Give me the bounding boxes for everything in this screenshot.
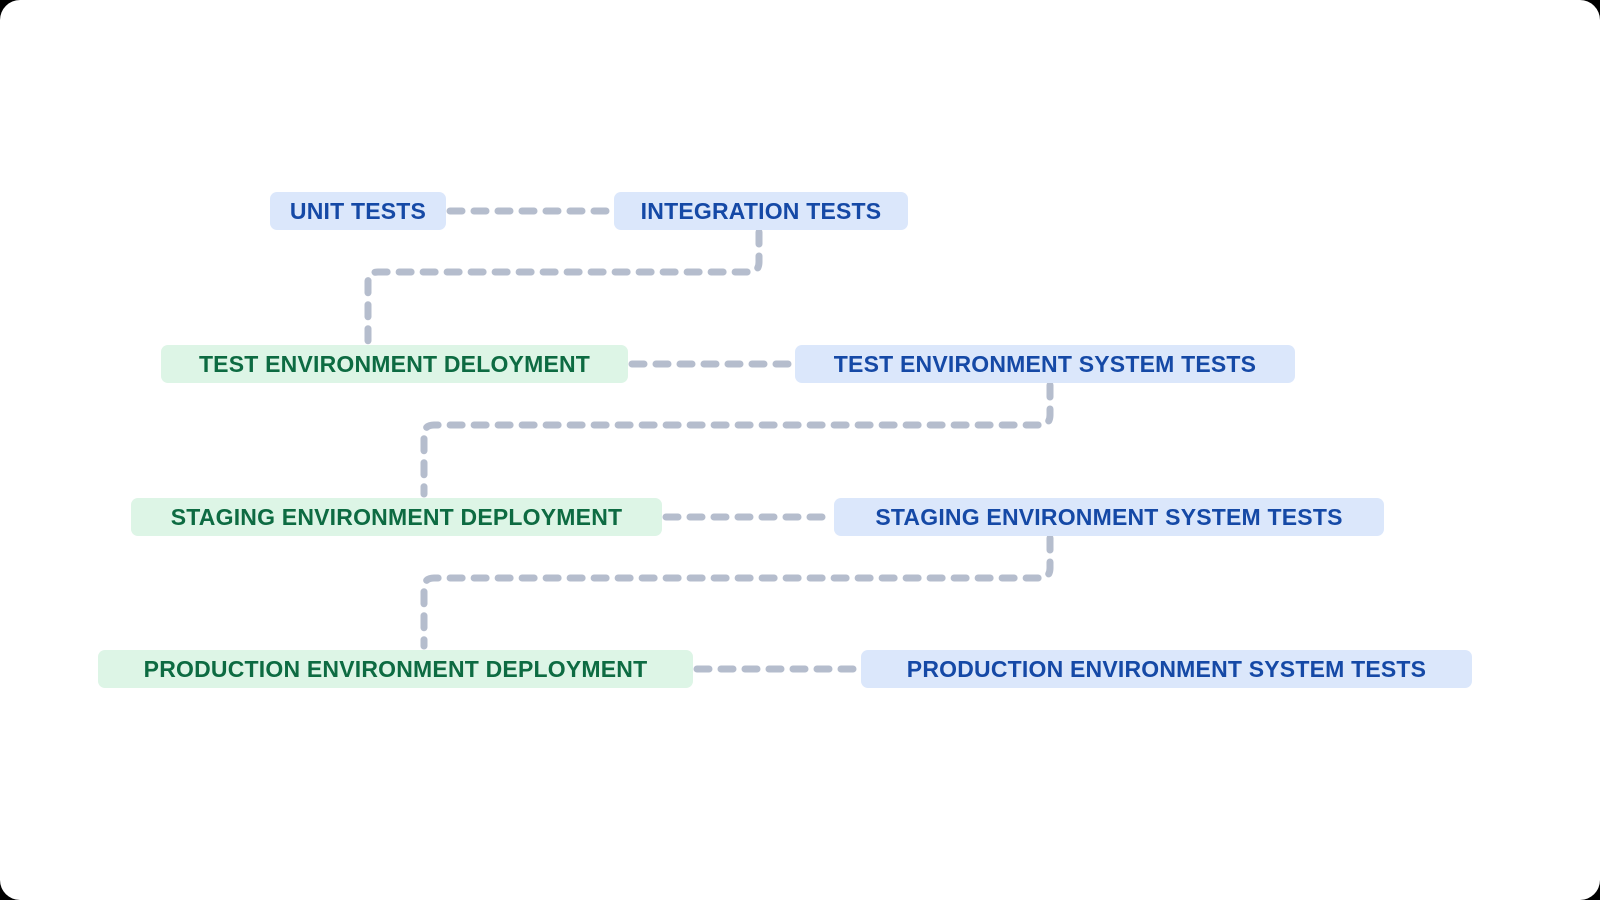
node-test-environment-deloyment[interactable]: TEST ENVIRONMENT DELOYMENT: [161, 345, 628, 383]
connector-integration-to-test-deploy: [368, 232, 759, 341]
node-label: TEST ENVIRONMENT DELOYMENT: [199, 351, 590, 378]
connector-staging-tests-to-prod: [424, 538, 1050, 646]
node-label: STAGING ENVIRONMENT SYSTEM TESTS: [875, 504, 1342, 531]
node-production-environment-deployment[interactable]: PRODUCTION ENVIRONMENT DEPLOYMENT: [98, 650, 693, 688]
node-production-environment-system-tests[interactable]: PRODUCTION ENVIRONMENT SYSTEM TESTS: [861, 650, 1472, 688]
node-test-environment-system-tests[interactable]: TEST ENVIRONMENT SYSTEM TESTS: [795, 345, 1295, 383]
node-label: PRODUCTION ENVIRONMENT SYSTEM TESTS: [907, 656, 1426, 683]
node-label: STAGING ENVIRONMENT DEPLOYMENT: [171, 504, 623, 531]
connector-layer: [0, 0, 1600, 900]
node-staging-environment-deployment[interactable]: STAGING ENVIRONMENT DEPLOYMENT: [131, 498, 662, 536]
node-label: UNIT TESTS: [290, 198, 426, 225]
diagram-canvas: UNIT TESTSINTEGRATION TESTSTEST ENVIRONM…: [0, 0, 1600, 900]
connector-test-tests-to-staging: [424, 385, 1050, 494]
node-label: TEST ENVIRONMENT SYSTEM TESTS: [834, 351, 1256, 378]
node-label: INTEGRATION TESTS: [641, 198, 882, 225]
node-integration-tests[interactable]: INTEGRATION TESTS: [614, 192, 908, 230]
node-label: PRODUCTION ENVIRONMENT DEPLOYMENT: [144, 656, 648, 683]
node-staging-environment-system-tests[interactable]: STAGING ENVIRONMENT SYSTEM TESTS: [834, 498, 1384, 536]
node-unit-tests[interactable]: UNIT TESTS: [270, 192, 446, 230]
